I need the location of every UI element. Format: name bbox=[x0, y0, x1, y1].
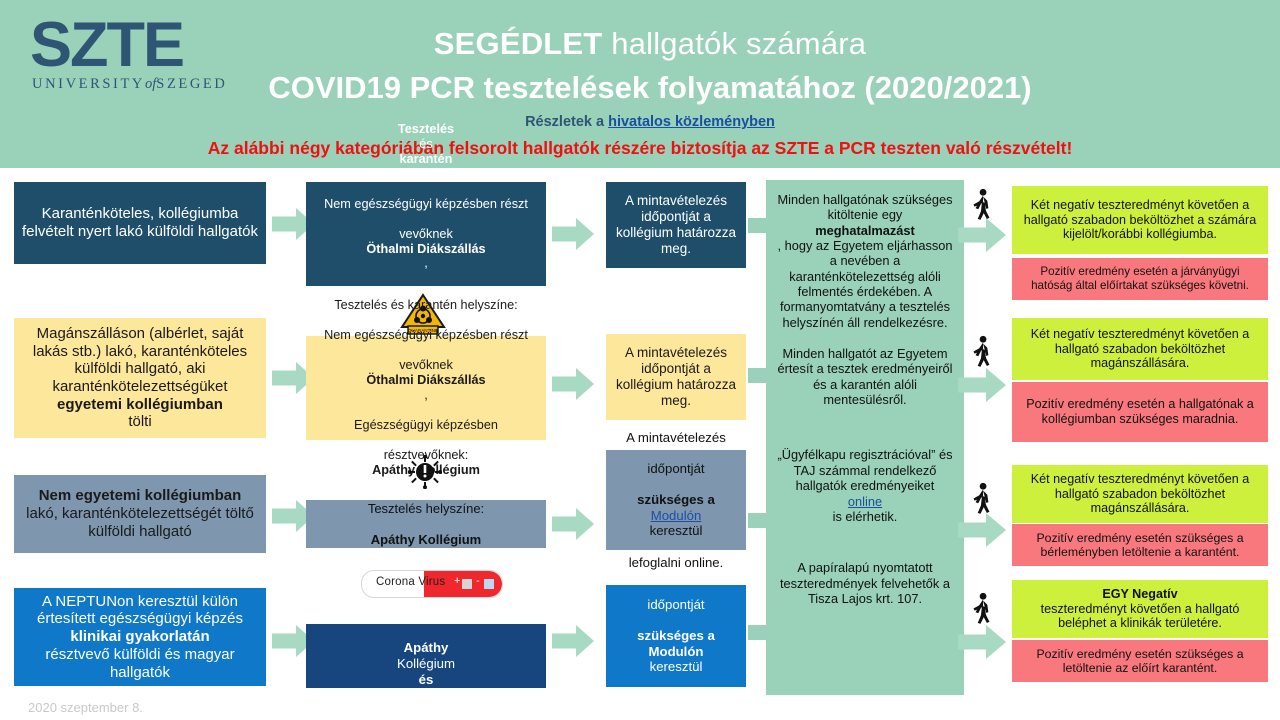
arrow-loc4-to-book4 bbox=[552, 625, 594, 657]
logo-wordmark: SZTE bbox=[30, 14, 183, 76]
outcome-positive-box-4: EGY Negatív teszteredményt követően a ha… bbox=[1012, 580, 1268, 638]
walking-person-icon-2 bbox=[969, 335, 995, 369]
footer-date: 2020 szeptember 8. bbox=[28, 700, 143, 715]
location-4-l2mid: Kollégium bbox=[313, 656, 539, 672]
page-title-bold: SEGÉDLET bbox=[434, 26, 603, 61]
modulon-link-3[interactable]: Modulón bbox=[651, 508, 702, 523]
category-3-text: Nem egyetemi kollégiumban lakó, karantén… bbox=[21, 487, 259, 540]
connector-stub-row4-in bbox=[748, 625, 770, 640]
outcome-pos-result-3-text: Pozitív eredmény esetén szükséges a bérl… bbox=[1019, 531, 1261, 560]
location-1-rest: helyszíne: bbox=[313, 167, 539, 182]
location-2-l4: Egészségügyi képzésben bbox=[313, 418, 539, 433]
arrow-mid-to-outcome2 bbox=[958, 368, 1010, 402]
category-box-4: A NEPTUNon keresztül külön értesített eg… bbox=[14, 588, 266, 686]
booking-4-l5: lefoglalni online. bbox=[613, 691, 739, 707]
outcome-neg-result-3-text: Két negatív teszteredményt követően a ha… bbox=[1019, 472, 1261, 517]
outcome-positive-box-2: Két negatív teszteredményt követően a ha… bbox=[1012, 318, 1268, 380]
category-box-1: Karanténköteles, kollégiumba felvételt n… bbox=[14, 182, 266, 264]
location-2-l1: Tesztelés és karantén helyszíne: bbox=[313, 298, 539, 313]
booking-box-3: A mintavételezés időpontját szükséges a … bbox=[606, 450, 746, 550]
outcome-4-rest: teszteredményt követően a hallgató belép… bbox=[1019, 602, 1261, 632]
walking-person-icon-3 bbox=[969, 482, 995, 516]
official-announcement-link[interactable]: hivatalos közleményben bbox=[608, 114, 775, 130]
connector-stub-row2-in bbox=[748, 368, 770, 383]
page-title-line2: COVID19 PCR tesztelések folyamatához (20… bbox=[240, 70, 1060, 106]
location-1-l3post: , bbox=[313, 256, 539, 271]
location-3-l1: Tesztelés helyszíne: bbox=[313, 501, 539, 516]
location-box-2: Tesztelés és karantén helyszíne: Nem egé… bbox=[306, 336, 546, 440]
booking-4-l4b: Modulón bbox=[649, 644, 704, 659]
location-4-l2b: Apáthy bbox=[404, 640, 449, 655]
booking-3-l3b: szükséges a bbox=[637, 492, 715, 507]
location-4-text: COVID tesztelés helyszínei: Apáthy Kollé… bbox=[313, 609, 539, 702]
page-title-rest: hallgatók számára bbox=[602, 26, 866, 61]
location-4-l3b: Tisza Lajos krt. 107 bbox=[366, 687, 487, 702]
corona-pill-label: Corona Virus bbox=[376, 576, 445, 588]
page-title-line1: SEGÉDLET hallgatók számára bbox=[240, 26, 1060, 62]
location-2-l3b: Öthalmi Diákszállás bbox=[366, 373, 485, 387]
header-banner: SZTE UNIVERSITYofSZEGED SEGÉDLET hallgat… bbox=[0, 0, 1280, 168]
middle-p1-c: , hogy az Egyetem eljárhasson a nevében … bbox=[774, 238, 956, 330]
middle-paragraph-2: Minden hallgatót az Egyetem értesít a te… bbox=[774, 346, 956, 407]
category-4-text: A NEPTUNon keresztül külön értesített eg… bbox=[21, 593, 259, 681]
location-1-b2: karantén bbox=[400, 152, 453, 166]
middle-p1-a: Minden hallgatónak szükséges kitöltenie … bbox=[774, 192, 956, 223]
corona-virus-test-icon: Corona Virus + - bbox=[361, 570, 503, 598]
corona-pill-square-2 bbox=[484, 579, 494, 589]
szte-logo: SZTE UNIVERSITYofSZEGED bbox=[30, 14, 225, 94]
booking-4-l2: időpontját bbox=[613, 597, 739, 613]
category-2-t1: Magánszálláson (albérlet, saját lakás st… bbox=[21, 325, 259, 396]
outcome-pos-result-1-text: Pozitív eredmény esetén a járványügyi ha… bbox=[1019, 265, 1261, 292]
corona-pill-square-1 bbox=[462, 579, 472, 589]
virus-icon bbox=[408, 455, 442, 489]
category-2-t3: tölti bbox=[21, 413, 259, 431]
category-3-t2: lakó, karanténkötelezettségét töltő külf… bbox=[21, 505, 259, 540]
booking-2-text: A mintavételezés időpontját a kollégium … bbox=[613, 345, 739, 409]
category-4-t1: A NEPTUNon keresztül külön értesített eg… bbox=[21, 593, 259, 628]
middle-info-column: Minden hallgatónak szükséges kitöltenie … bbox=[766, 180, 964, 695]
category-4-t2: klinikai gyakorlatán bbox=[70, 628, 209, 645]
red-notice: Az alábbi négy kategóriában felsorolt ha… bbox=[0, 138, 1280, 159]
category-1-text: Karanténköteles, kollégiumba felvételt n… bbox=[21, 205, 259, 240]
outcome-negative-box-1: Pozitív eredmény esetén a járványügyi ha… bbox=[1012, 258, 1268, 300]
arrow-loc1-to-book1 bbox=[552, 218, 594, 250]
middle-p3-a: „Ügyfélkapu regisztrációval” és TAJ szám… bbox=[774, 447, 956, 493]
location-4-l2b2: és bbox=[419, 672, 434, 687]
location-1-l3b: Öthalmi Diákszállás bbox=[366, 242, 485, 256]
location-box-1: Tesztelés és karantén helyszíne: Nem egé… bbox=[306, 182, 546, 286]
outcome-pos-result-2-text: Pozitív eredmény esetén a hallgatónak a … bbox=[1019, 397, 1261, 427]
booking-box-4: A mintavételezés időpontját szükséges a … bbox=[606, 585, 746, 687]
booking-1-text: A mintavételezés időpontját a kollégium … bbox=[613, 193, 739, 257]
location-1-mid: és bbox=[313, 137, 539, 152]
category-box-3: Nem egyetemi kollégiumban lakó, karantén… bbox=[14, 475, 266, 553]
connector-stub-row1-in bbox=[748, 218, 770, 233]
walking-person-icon-4 bbox=[969, 592, 995, 626]
outcome-positive-box-3: Két negatív teszteredményt követően a ha… bbox=[1012, 465, 1268, 523]
outcome-negative-box-2: Pozitív eredmény esetén a hallgatónak a … bbox=[1012, 382, 1268, 442]
booking-3-l4rest: keresztül bbox=[613, 523, 739, 539]
walking-person-icon-1 bbox=[969, 188, 995, 222]
corona-pill-minus: - bbox=[476, 575, 480, 587]
logo-tagline-szeged: SZEGED bbox=[156, 76, 227, 92]
location-2-l3post: , bbox=[313, 388, 539, 403]
booking-4-l3b: szükséges a bbox=[637, 628, 715, 643]
category-box-2: Magánszálláson (albérlet, saját lakás st… bbox=[14, 318, 266, 438]
corona-pill-plus: + bbox=[454, 575, 460, 587]
outcome-neg-result-4-text: EGY Negatív teszteredményt követően a ha… bbox=[1019, 587, 1261, 632]
outcome-pos-result-4-text: Pozitív eredmény esetén szükséges a letö… bbox=[1019, 647, 1261, 676]
location-1-l2: Nem egészségügyi képzésben részt bbox=[313, 197, 539, 212]
booking-box-2: A mintavételezés időpontját a kollégium … bbox=[606, 334, 746, 420]
outcome-positive-box-1: Két negatív teszteredményt követően a ha… bbox=[1012, 186, 1268, 254]
location-3-text: Tesztelés helyszíne: Apáthy Kollégium bbox=[313, 501, 539, 547]
booking-3-l1: A mintavételezés bbox=[613, 430, 739, 446]
location-4-l1: COVID tesztelés helyszínei: bbox=[313, 609, 539, 625]
logo-tagline: UNIVERSITYofSZEGED bbox=[32, 76, 227, 93]
location-box-4: COVID tesztelés helyszínei: Apáthy Kollé… bbox=[306, 624, 546, 688]
category-2-t2: egyetemi kollégiumban bbox=[57, 396, 223, 413]
arrow-loc2-to-book2 bbox=[552, 368, 594, 400]
category-3-t1: Nem egyetemi kollégiumban bbox=[39, 487, 242, 504]
booking-box-1: A mintavételezés időpontját a kollégium … bbox=[606, 182, 746, 268]
outcome-negative-box-4: Pozitív eredmény esetén szükséges a letö… bbox=[1012, 640, 1268, 682]
category-4-t3: résztvevő külföldi és magyar hallgatók bbox=[21, 646, 259, 681]
booking-3-text: A mintavételezés időpontját szükséges a … bbox=[613, 430, 739, 570]
arrow-mid-to-outcome3 bbox=[958, 513, 1010, 547]
logo-tagline-of: of bbox=[145, 76, 156, 92]
middle-paragraph-4: A papíralapú nyomtatott teszteredmények … bbox=[774, 560, 956, 606]
logo-tagline-university: UNIVERSITY bbox=[32, 76, 145, 92]
arrow-loc3-to-book3 bbox=[552, 508, 594, 540]
booking-4-l4rest: keresztül bbox=[613, 659, 739, 675]
outcome-4-bold: EGY Negatív bbox=[1102, 587, 1177, 601]
middle-paragraph-3: „Ügyfélkapu regisztrációval” és TAJ szám… bbox=[774, 447, 956, 524]
booking-4-l1: A mintavételezés bbox=[613, 566, 739, 582]
location-2-l2: Nem egészségügyi képzésben részt bbox=[313, 328, 539, 343]
middle-p3-b: is elérhetik. bbox=[774, 509, 956, 524]
booking-4-text: A mintavételezés időpontját szükséges a … bbox=[613, 566, 739, 706]
category-2-text: Magánszálláson (albérlet, saját lakás st… bbox=[21, 325, 259, 431]
location-1-l3pre: vevőknek bbox=[313, 227, 539, 242]
location-box-3: Tesztelés helyszíne: Apáthy Kollégium bbox=[306, 500, 546, 548]
outcome-negative-box-3: Pozitív eredmény esetén szükséges a bérl… bbox=[1012, 524, 1268, 566]
location-1-b1: Tesztelés bbox=[398, 122, 454, 136]
outcome-neg-result-2-text: Két negatív teszteredményt követően a ha… bbox=[1019, 327, 1261, 372]
arrow-mid-to-outcome1 bbox=[958, 218, 1010, 252]
location-2-l3pre: vevőknek bbox=[313, 358, 539, 373]
middle-paragraph-1: Minden hallgatónak szükséges kitöltenie … bbox=[774, 192, 956, 330]
booking-3-l2: időpontját bbox=[613, 461, 739, 477]
online-results-link[interactable]: online bbox=[848, 494, 882, 509]
outcome-neg-result-1-text: Két negatív teszteredményt követően a ha… bbox=[1019, 198, 1261, 243]
middle-p1-b: meghatalmazást bbox=[815, 223, 915, 238]
location-2-text: Tesztelés és karantén helyszíne: Nem egé… bbox=[313, 298, 539, 478]
arrow-mid-to-outcome4 bbox=[958, 625, 1010, 659]
connector-stub-row3-in bbox=[748, 513, 770, 528]
location-3-l2b: Apáthy Kollégium bbox=[371, 532, 482, 547]
